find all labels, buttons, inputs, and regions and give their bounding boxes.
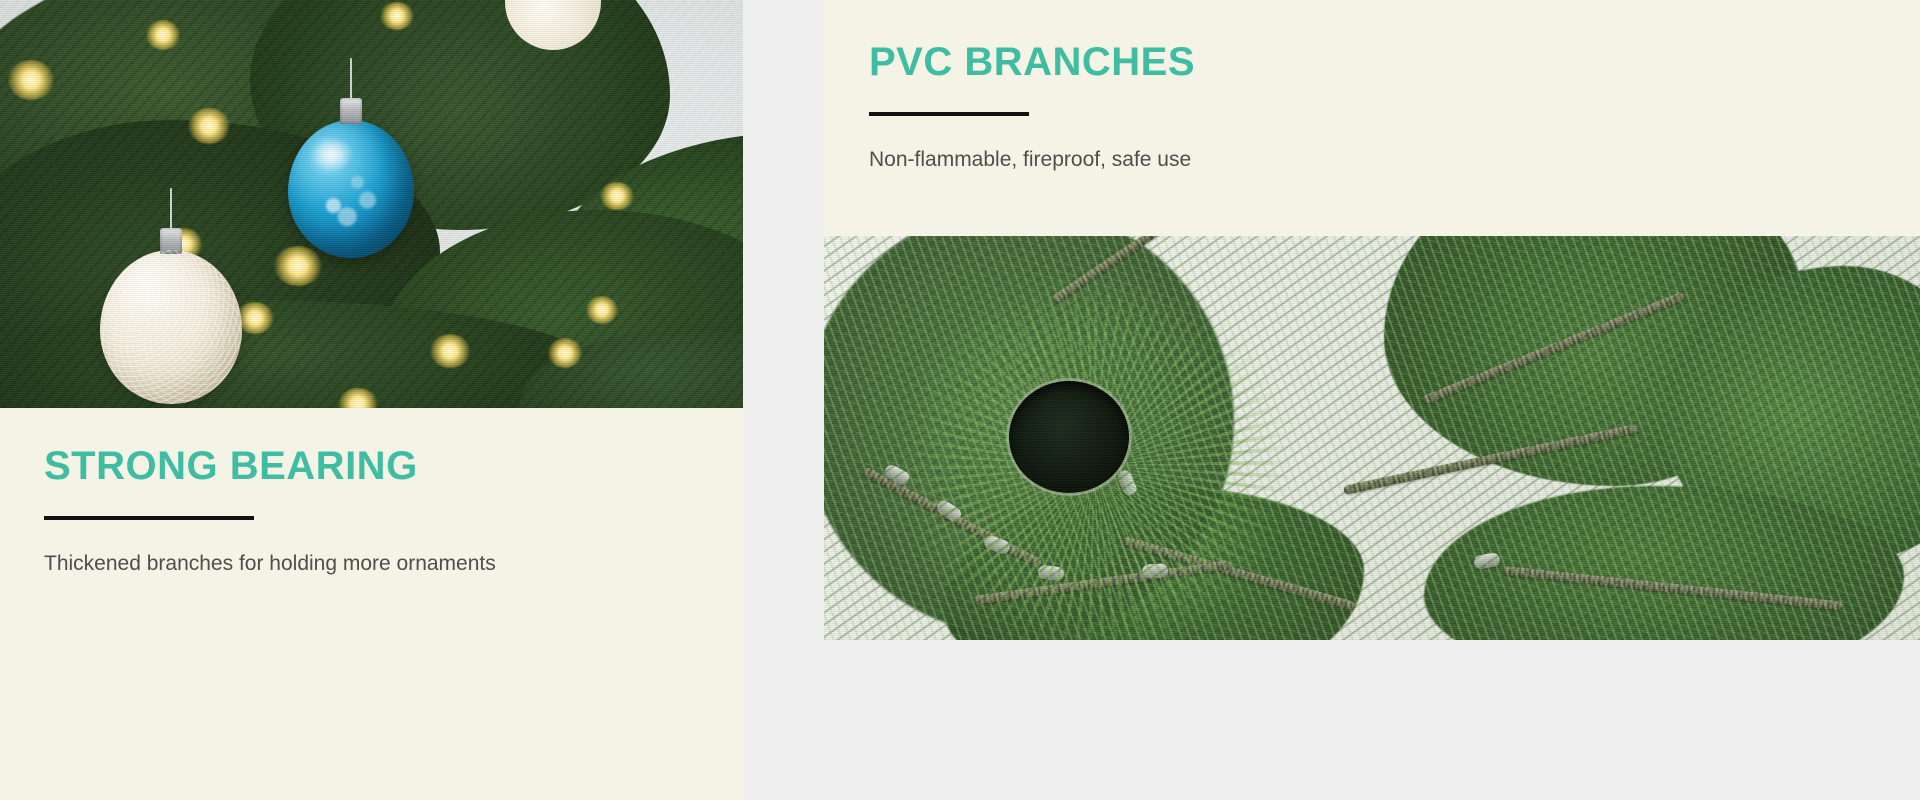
center-pole-socket	[1009, 381, 1129, 493]
fairy-light-bulb	[274, 246, 322, 286]
fairy-light-bulb	[8, 60, 54, 100]
photo-branch-hub	[824, 236, 1920, 640]
feature-subtitle-pvc-branches: Non-flammable, fireproof, safe use	[869, 146, 1195, 173]
fairy-light-bulb	[600, 182, 634, 210]
fairy-light-bulb	[188, 108, 230, 144]
ornament-hook	[350, 58, 352, 100]
fairy-light-bulb	[586, 296, 618, 324]
photo-tree-ornaments	[0, 0, 743, 408]
fairy-light-bulb	[380, 2, 414, 30]
feature-card-pvc-branches: PVC BRANCHES Non-flammable, fireproof, s…	[824, 0, 1920, 236]
feature-title-pvc-branches: PVC BRANCHES	[869, 42, 1195, 82]
ornament-hook	[170, 188, 172, 230]
feature-divider-rule	[869, 112, 1029, 116]
ornament-highlight	[311, 137, 354, 173]
ornament-ball-blue	[288, 120, 414, 258]
feature-title-strong-bearing: STRONG BEARING	[44, 446, 496, 486]
fairy-light-bulb	[548, 338, 582, 368]
feature-card-strong-bearing: STRONG BEARING Thickened branches for ho…	[0, 408, 743, 800]
feature-divider-rule	[44, 516, 254, 520]
fairy-light-bulb	[430, 334, 470, 368]
product-feature-board: PVC BRANCHES Non-flammable, fireproof, s…	[0, 0, 1920, 800]
fairy-light-bulb	[146, 20, 180, 50]
ornament-frost-pattern	[288, 120, 414, 258]
ornament-glitter-texture	[100, 250, 242, 404]
ornament-ball-cream	[100, 250, 242, 404]
feature-subtitle-strong-bearing: Thickened branches for holding more orna…	[44, 550, 496, 577]
